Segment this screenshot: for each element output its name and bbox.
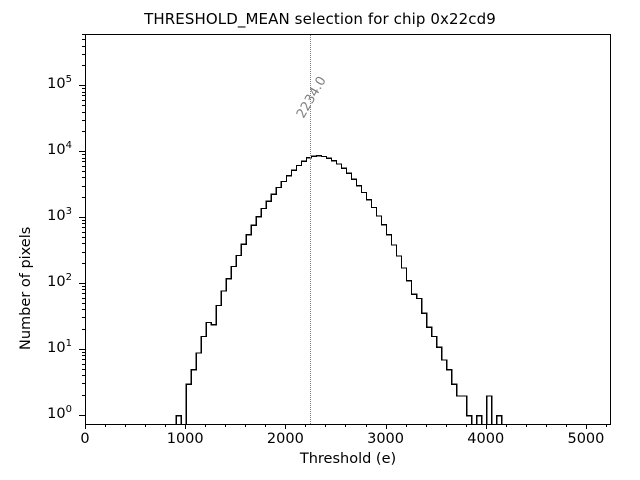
x-tick-minor <box>345 425 346 427</box>
y-tick-minor <box>82 161 86 162</box>
y-tick-label: 101 <box>0 338 72 356</box>
y-tick-minor <box>82 317 86 318</box>
y-tick-label: 103 <box>0 206 72 224</box>
y-tick-minor <box>82 158 86 159</box>
x-tick-label: 2000 <box>245 431 325 447</box>
y-tick-minor <box>82 131 86 132</box>
y-tick-minor <box>82 286 86 287</box>
y-tick-label: 105 <box>0 74 72 92</box>
y-tick-minor <box>82 263 86 264</box>
y-tick-label: 100 <box>0 404 72 422</box>
plot-area <box>85 34 611 425</box>
y-tick-label: 104 <box>0 140 72 158</box>
y-tick-minor <box>82 293 86 294</box>
y-tick <box>79 283 85 284</box>
histogram-series <box>86 35 610 424</box>
y-tick-minor <box>82 329 86 330</box>
y-tick-minor <box>82 352 86 353</box>
x-tick-label: 1000 <box>145 431 225 447</box>
y-tick-minor <box>82 197 86 198</box>
x-tick-label: 4000 <box>446 431 526 447</box>
y-tick-minor <box>82 54 86 55</box>
y-tick-minor <box>82 120 86 121</box>
y-tick-minor <box>82 383 86 384</box>
chart-title: THRESHOLD_MEAN selection for chip 0x22cd… <box>0 10 640 28</box>
x-tick-minor <box>566 425 567 427</box>
y-tick <box>79 217 85 218</box>
y-tick-minor <box>82 220 86 221</box>
y-tick-minor <box>82 232 86 233</box>
y-tick-minor <box>82 95 86 96</box>
x-tick-minor <box>225 425 226 427</box>
x-tick-minor <box>606 425 607 427</box>
y-tick-minor <box>82 369 86 370</box>
x-axis-label: Threshold (e) <box>85 451 611 467</box>
y-tick-minor <box>82 298 86 299</box>
y-tick-minor <box>82 92 86 93</box>
y-tick-minor <box>82 46 86 47</box>
x-tick <box>85 425 86 429</box>
x-tick <box>486 425 487 429</box>
y-tick-minor <box>82 186 86 187</box>
y-tick-minor <box>82 112 86 113</box>
y-tick <box>79 151 85 152</box>
y-tick-minor <box>82 252 86 253</box>
x-tick-minor <box>125 425 126 427</box>
y-tick <box>79 415 85 416</box>
x-tick-minor <box>305 425 306 427</box>
x-tick <box>185 425 186 429</box>
x-tick-minor <box>165 425 166 427</box>
x-tick-minor <box>145 425 146 427</box>
y-tick-minor <box>82 100 86 101</box>
x-tick-minor <box>446 425 447 427</box>
x-tick-label: 5000 <box>546 431 626 447</box>
x-tick-minor <box>366 425 367 427</box>
x-tick-label: 0 <box>45 431 125 447</box>
x-tick-label: 3000 <box>346 431 426 447</box>
x-tick <box>586 425 587 429</box>
x-tick-minor <box>205 425 206 427</box>
x-tick-minor <box>265 425 266 427</box>
x-tick-minor <box>466 425 467 427</box>
y-tick-minor <box>82 65 86 66</box>
x-tick-minor <box>245 425 246 427</box>
y-tick-minor <box>82 88 86 89</box>
y-tick-minor <box>82 39 86 40</box>
y-tick-minor <box>82 177 86 178</box>
y-tick-minor <box>82 395 86 396</box>
y-tick-minor <box>82 355 86 356</box>
x-tick <box>386 425 387 429</box>
y-tick-minor <box>82 154 86 155</box>
y-tick-minor <box>82 34 86 35</box>
y-tick-minor <box>82 289 86 290</box>
y-tick-minor <box>82 227 86 228</box>
x-tick-minor <box>546 425 547 427</box>
x-tick-minor <box>325 425 326 427</box>
y-tick-minor <box>82 303 86 304</box>
y-tick-minor <box>82 223 86 224</box>
x-tick-minor <box>526 425 527 427</box>
x-tick-minor <box>506 425 507 427</box>
y-tick-minor <box>82 364 86 365</box>
y-tick-minor <box>82 375 86 376</box>
y-tick-minor <box>82 359 86 360</box>
x-tick <box>285 425 286 429</box>
y-axis-label: Number of pixels <box>18 227 34 350</box>
y-tick-minor <box>82 243 86 244</box>
y-tick-minor <box>82 105 86 106</box>
y-tick-minor <box>82 309 86 310</box>
y-tick-minor <box>82 237 86 238</box>
x-tick-minor <box>406 425 407 427</box>
x-tick-minor <box>105 425 106 427</box>
x-tick-minor <box>426 425 427 427</box>
plot-canvas <box>86 35 610 424</box>
y-tick-minor <box>82 171 86 172</box>
y-tick-label: 102 <box>0 272 72 290</box>
y-tick <box>79 349 85 350</box>
figure: THRESHOLD_MEAN selection for chip 0x22cd… <box>0 0 640 480</box>
y-tick <box>79 85 85 86</box>
y-tick-minor <box>82 166 86 167</box>
